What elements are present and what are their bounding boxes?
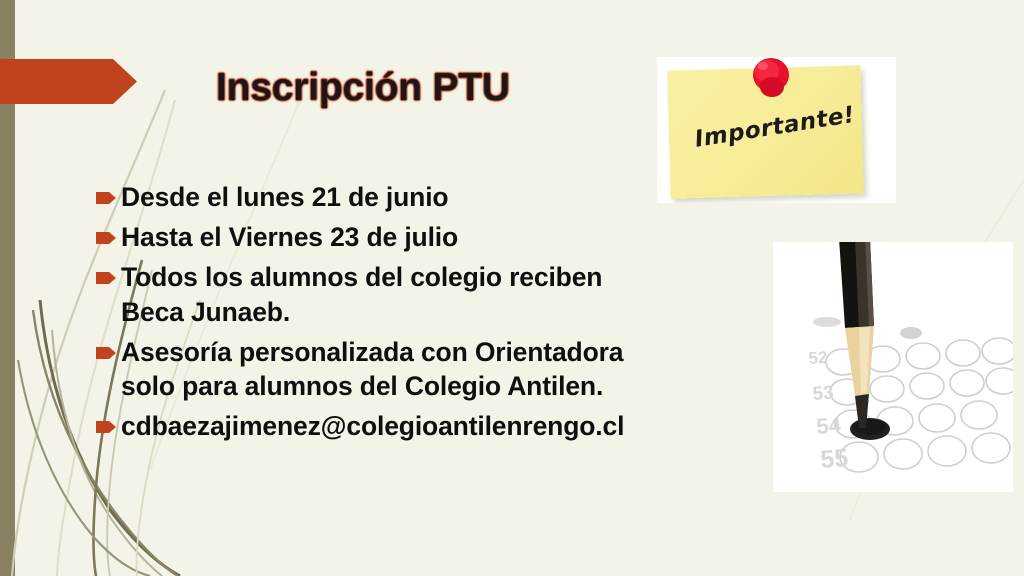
- svg-text:52: 52: [808, 348, 828, 368]
- list-item: Asesoría personalizada con Orientadora s…: [96, 335, 786, 403]
- list-item-label: Desde el lunes 21 de junio: [121, 180, 448, 214]
- page-title: Inscripción PTU: [216, 66, 510, 110]
- list-item-line2: solo para alumnos del Colegio Antilen.: [121, 369, 623, 403]
- contact-email: cdbaezajimenez@colegioantilenrengo.cl: [121, 409, 624, 443]
- arrow-bullet-icon: [96, 347, 116, 359]
- arrow-bullet-icon: [96, 232, 116, 244]
- red-arrow-banner: [0, 59, 137, 104]
- pencil-scantron-image: 52 53 54 55: [773, 242, 1013, 492]
- list-item-line1: Desde el lunes 21 de junio: [121, 182, 448, 212]
- list-item-line1: cdbaezajimenez@colegioantilenrengo.cl: [121, 411, 624, 441]
- sticky-note-image: Importante!: [657, 57, 896, 203]
- arrow-bullet-icon: [96, 272, 116, 284]
- list-item: cdbaezajimenez@colegioantilenrengo.cl: [96, 409, 786, 443]
- list-item: Todos los alumnos del colegio reciben Be…: [96, 260, 786, 328]
- list-item-label: Asesoría personalizada con Orientadora s…: [121, 335, 623, 403]
- svg-text:53: 53: [812, 383, 835, 405]
- scantron-illustration: 52 53 54 55: [773, 242, 1013, 492]
- list-item-line2: Beca Junaeb.: [121, 295, 602, 329]
- pushpin-icon: [750, 57, 790, 102]
- list-item-label: Hasta el Viernes 23 de julio: [121, 220, 458, 254]
- svg-text:54: 54: [816, 412, 843, 439]
- list-item: Hasta el Viernes 23 de julio: [96, 220, 786, 254]
- list-item-line1: Hasta el Viernes 23 de julio: [121, 222, 458, 252]
- bullet-list: Desde el lunes 21 de junio Hasta el Vier…: [96, 180, 786, 449]
- svg-text:55: 55: [819, 444, 849, 474]
- arrow-bullet-icon: [96, 421, 116, 433]
- arrow-bullet-icon: [96, 192, 116, 204]
- slide-canvas: Inscripción PTU Desde el lunes 21 de jun…: [0, 0, 1024, 576]
- list-item-line1: Asesoría personalizada con Orientadora: [121, 337, 623, 367]
- list-item-line1: Todos los alumnos del colegio reciben: [121, 262, 602, 292]
- list-item-label: Todos los alumnos del colegio reciben Be…: [121, 260, 602, 328]
